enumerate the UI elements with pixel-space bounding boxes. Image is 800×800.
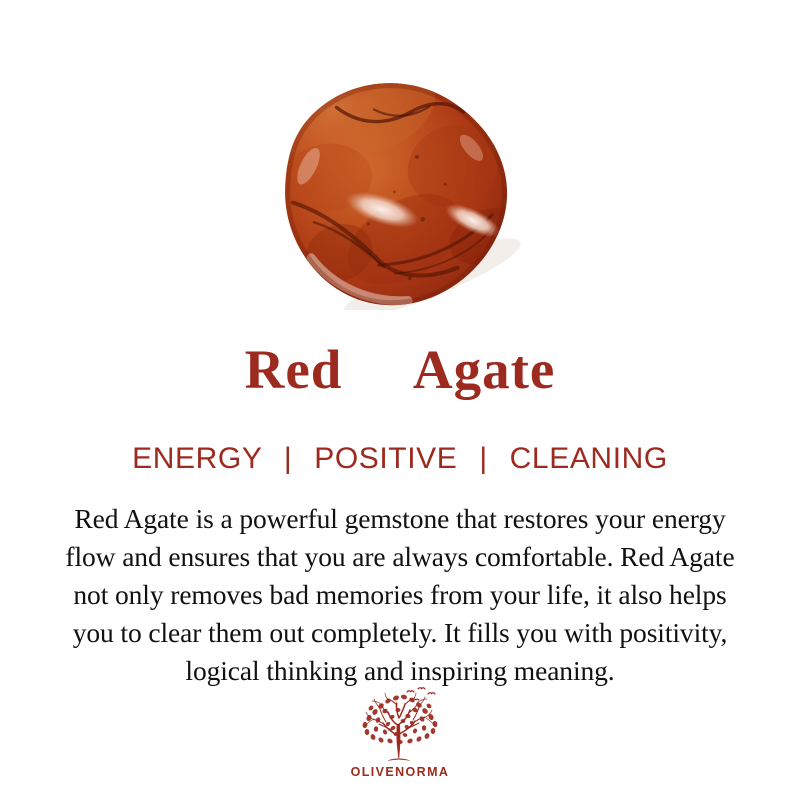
brand-logo: OLIVENORMA <box>0 684 800 779</box>
keyword-list: ENERGY | POSITIVE | CLEANING <box>0 441 800 477</box>
gemstone-tumbled-stone-icon <box>268 70 530 310</box>
keyword-energy: ENERGY <box>132 442 262 475</box>
description-line: you to clear them out completely. It fil… <box>22 614 778 652</box>
keyword-separator: | <box>271 441 305 477</box>
keyword-positive: POSITIVE <box>314 442 457 475</box>
product-description: Red Agate is a powerful gemstone that re… <box>22 500 778 690</box>
description-line: not only removes bad memories from your … <box>22 576 778 614</box>
description-line: Red Agate is a powerful gemstone that re… <box>22 500 778 538</box>
product-image <box>268 70 530 310</box>
brand-wordmark: OLIVENORMA <box>351 765 450 779</box>
keyword-separator: | <box>466 441 500 477</box>
page-title: Red Agate <box>0 340 800 399</box>
tree-of-life-icon <box>352 684 448 762</box>
product-info-card: Red Agate ENERGY | POSITIVE | CLEANING R… <box>0 0 800 800</box>
description-line: flow and ensures that you are always com… <box>22 538 778 576</box>
keyword-cleaning: CLEANING <box>510 442 668 475</box>
